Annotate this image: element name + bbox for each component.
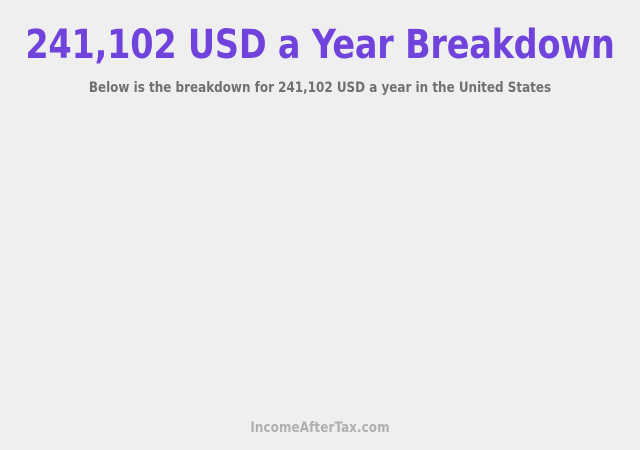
- chart-canvas: [0, 96, 640, 420]
- site-watermark: IncomeAfterTax.com: [16, 420, 624, 436]
- page-title: 241,102 USD a Year Breakdown: [22, 22, 617, 68]
- page-subtitle: Below is the breakdown for 241,102 USD a…: [16, 68, 624, 96]
- breakdown-page: 241,102 USD a Year Breakdown Below is th…: [0, 0, 640, 450]
- page-footer: IncomeAfterTax.com: [0, 420, 640, 450]
- page-header: 241,102 USD a Year Breakdown Below is th…: [0, 0, 640, 96]
- chart-area: [0, 96, 640, 420]
